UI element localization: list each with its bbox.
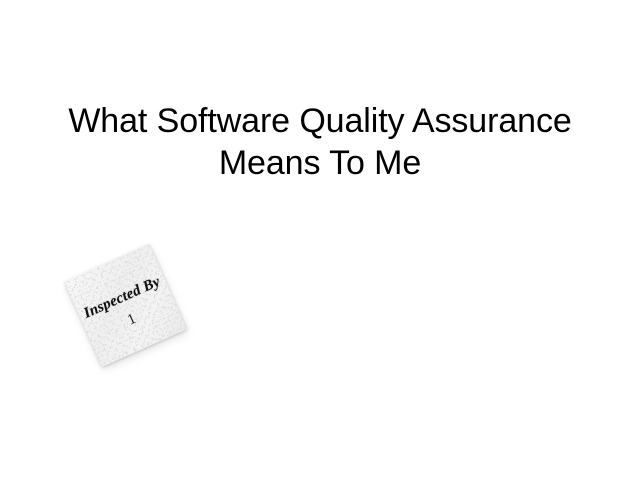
- inspection-stamp-image: Inspected By 1: [63, 249, 187, 361]
- stamp-paper: Inspected By 1: [64, 244, 187, 367]
- page-title: What Software Quality Assurance Means To…: [0, 100, 640, 184]
- title-line-2: Means To Me: [0, 142, 640, 184]
- title-line-1: What Software Quality Assurance: [0, 100, 640, 142]
- slide-canvas: What Software Quality Assurance Means To…: [0, 0, 640, 480]
